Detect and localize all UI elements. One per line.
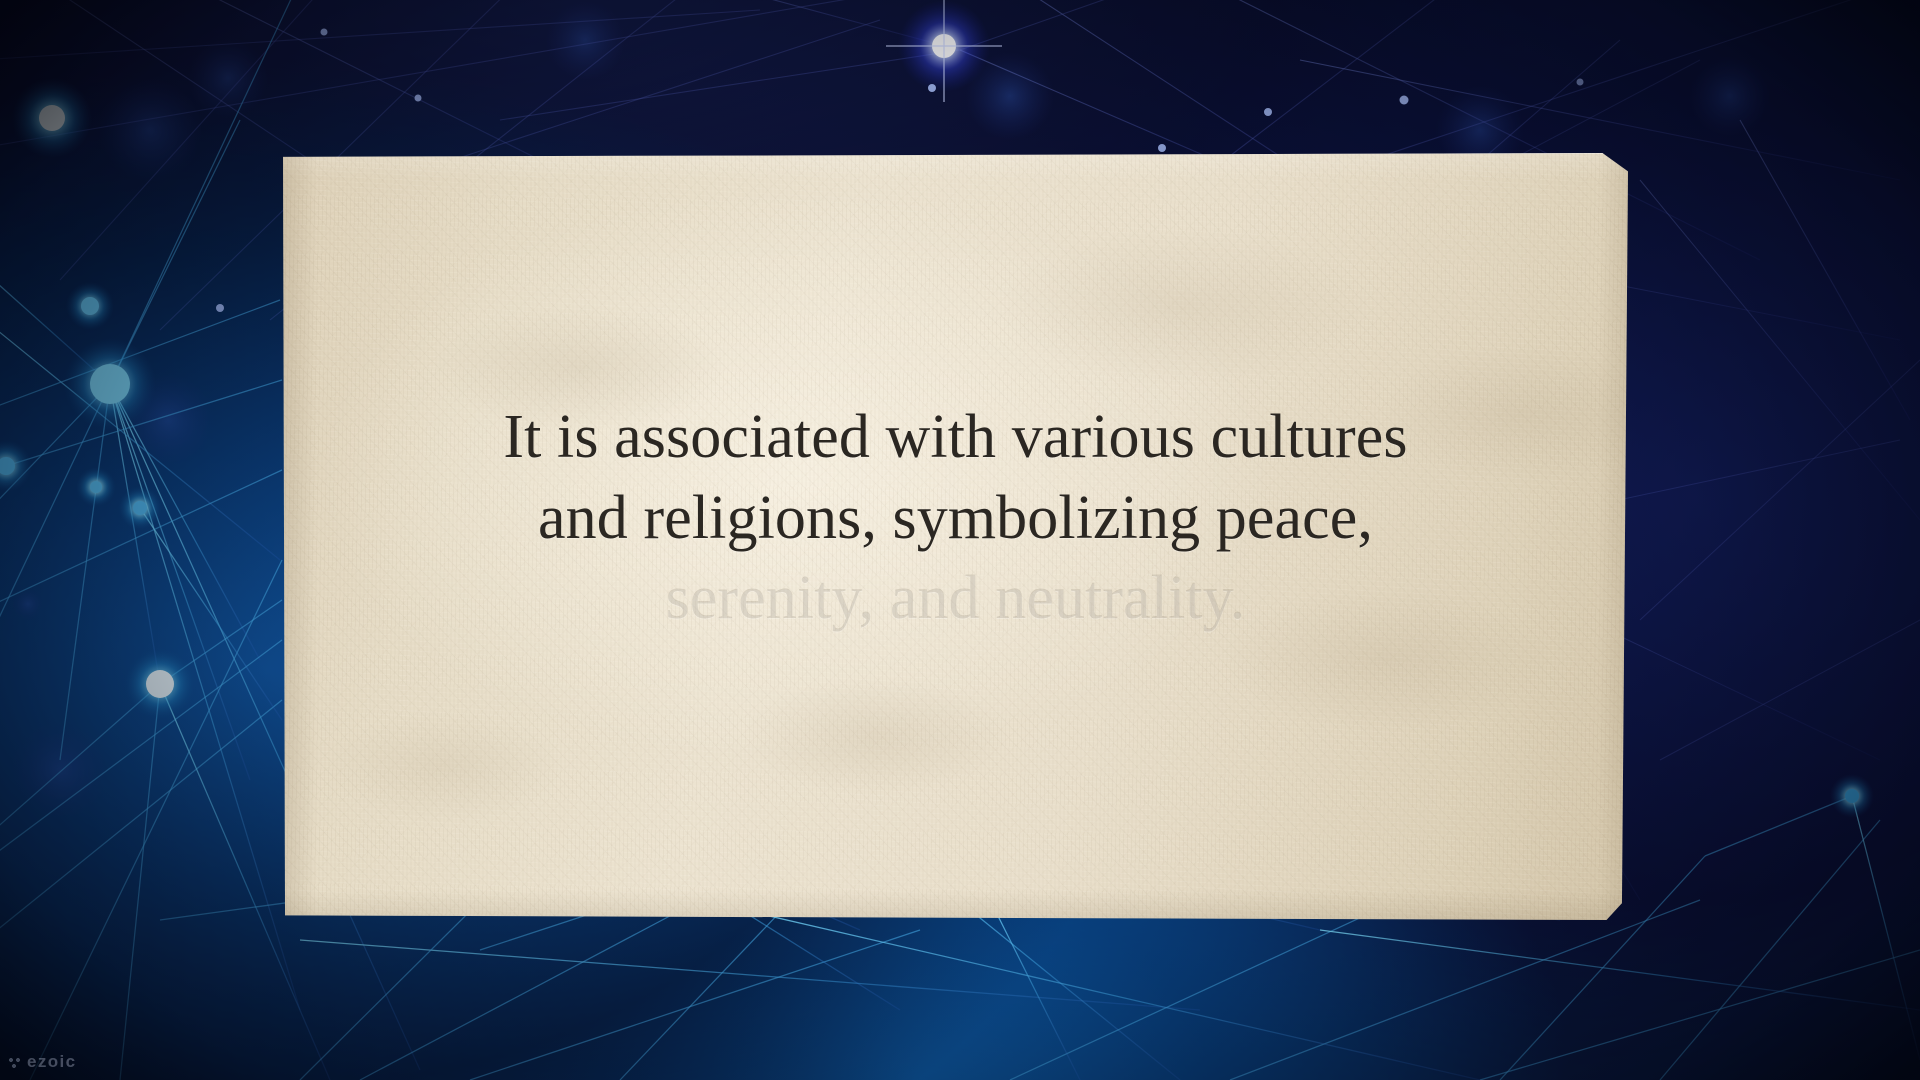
ezoic-dots-icon: [9, 1057, 22, 1068]
quote-text-block: It is associated with various cultures a…: [283, 397, 1628, 639]
quote-line-1: It is associated with various cultures: [329, 397, 1582, 478]
paper-card: It is associated with various cultures a…: [283, 153, 1628, 920]
ezoic-watermark: ezoic: [9, 1052, 77, 1072]
watermark-label: ezoic: [27, 1052, 77, 1072]
quote-line-2: and religions, symbolizing peace,: [329, 478, 1582, 559]
quote-line-3: serenity, and neutrality.: [329, 558, 1582, 639]
slide-canvas: It is associated with various cultures a…: [0, 0, 1920, 1080]
